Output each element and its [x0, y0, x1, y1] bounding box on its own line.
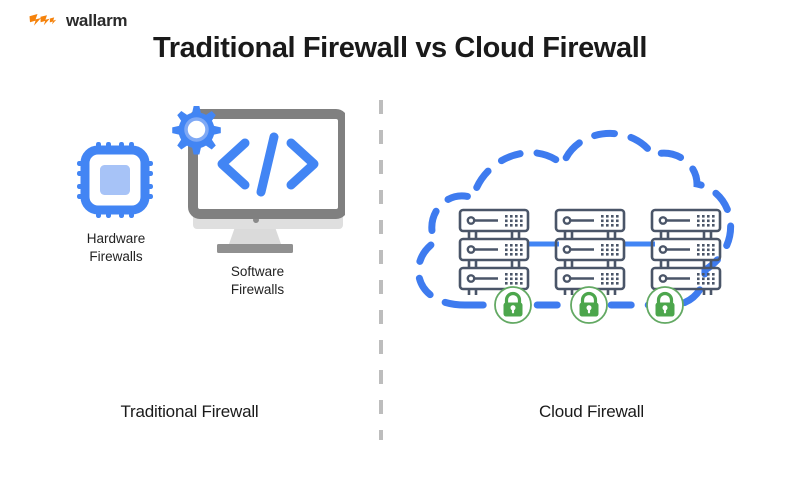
brand-name: wallarm: [66, 12, 127, 29]
cpu-chip-icon: [75, 140, 155, 220]
software-firewall-label: Software Firewalls: [165, 263, 350, 299]
wallarm-lightning-mark-icon: [28, 12, 58, 28]
hardware-label-line2: Firewalls: [89, 249, 142, 264]
padlock-secure-icon: [647, 287, 683, 323]
panel-caption-traditional: Traditional Firewall: [0, 402, 379, 422]
server-rack-icon: [556, 210, 624, 295]
infographic-page: wallarm Traditional Firewall vs Cloud Fi…: [0, 0, 800, 480]
software-label-line1: Software: [231, 264, 284, 279]
monitor-code-gear-icon: [165, 100, 345, 255]
software-firewall-item: Software Firewalls: [165, 100, 350, 299]
hardware-firewall-item: Hardware Firewalls: [75, 140, 157, 266]
server-rack-icon: [652, 210, 720, 295]
panel-traditional-firewall: Hardware Firewalls: [0, 100, 379, 460]
software-label-line2: Firewalls: [231, 282, 284, 297]
cloud-artwork: [405, 110, 745, 360]
panel-caption-cloud: Cloud Firewall: [383, 402, 800, 422]
brand-logo[interactable]: wallarm: [28, 6, 127, 34]
cloud-firewall-diagram: [405, 110, 745, 360]
padlock-secure-icon: [571, 287, 607, 323]
traditional-artwork: Hardware Firewalls: [0, 100, 379, 375]
server-rack-icon: [460, 210, 528, 295]
page-title: Traditional Firewall vs Cloud Firewall: [0, 32, 800, 65]
hardware-label-line1: Hardware: [87, 231, 146, 246]
gear-icon: [172, 106, 221, 155]
padlock-secure-icon: [495, 287, 531, 323]
hardware-firewall-label: Hardware Firewalls: [75, 230, 157, 266]
panel-cloud-firewall: Cloud Firewall: [383, 100, 800, 460]
